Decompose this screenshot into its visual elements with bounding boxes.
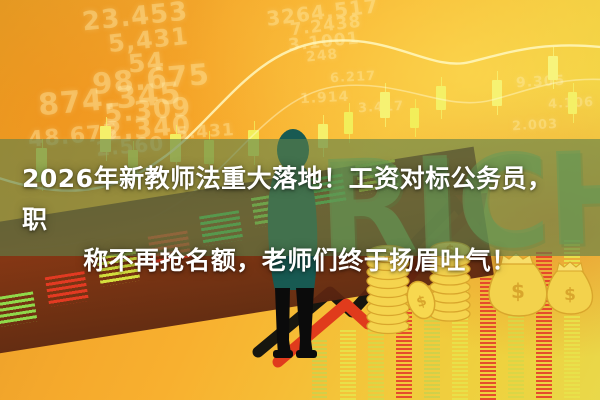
headline-text: 2026年新教师法重大落地！工资对标公务员，职 称不再抢名额，老师们终于扬眉吐气… xyxy=(0,158,600,281)
headline-line-1: 2026年新教师法重大落地！工资对标公务员，职 xyxy=(22,158,578,240)
thumbnail-image: 23.4535,4315498.675874.3455.3092.3403264… xyxy=(0,0,600,400)
headline-line-2: 称不再抢名额，老师们终于扬眉吐气！ xyxy=(22,240,578,281)
ticker-block xyxy=(0,291,38,327)
